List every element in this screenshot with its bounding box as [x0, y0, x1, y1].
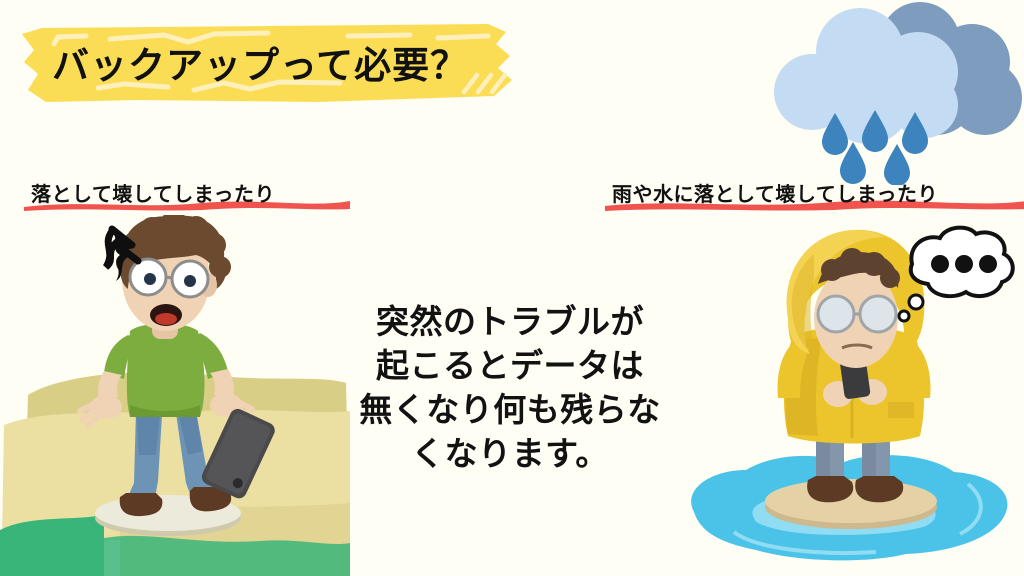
shocked-man-illustration — [0, 215, 350, 576]
man-head — [116, 215, 231, 331]
rain-cloud-icon — [740, 0, 1024, 185]
page-title: バックアップって必要？ — [52, 35, 468, 89]
center-message: 突然のトラブルが 起こるとデータは 無くなり何も残らな くなります。 — [340, 300, 680, 476]
thought-dot — [979, 255, 997, 273]
caption-right: 雨や水に落として壊してしまったり — [612, 178, 938, 207]
center-message-line-4: くなります。 — [340, 432, 680, 476]
raindrops-group — [822, 110, 928, 185]
raincoat-person-illustration — [676, 222, 1024, 576]
thought-dot — [931, 255, 949, 273]
thought-bubble-icon — [899, 228, 1013, 321]
caption-left: 落として壊してしまったり — [31, 178, 275, 207]
center-message-line-1: 突然のトラブルが — [340, 300, 680, 344]
slide-canvas: バックアップって必要？ 落として壊してしまったり 雨や水に落として壊してしまった… — [0, 0, 1024, 576]
thought-dot — [955, 255, 973, 273]
raincoat-face — [814, 248, 900, 368]
center-message-line-2: 起こるとデータは — [340, 344, 680, 388]
title-banner: バックアップって必要？ — [18, 18, 528, 106]
center-message-line-3: 無くなり何も残らな — [340, 388, 680, 432]
